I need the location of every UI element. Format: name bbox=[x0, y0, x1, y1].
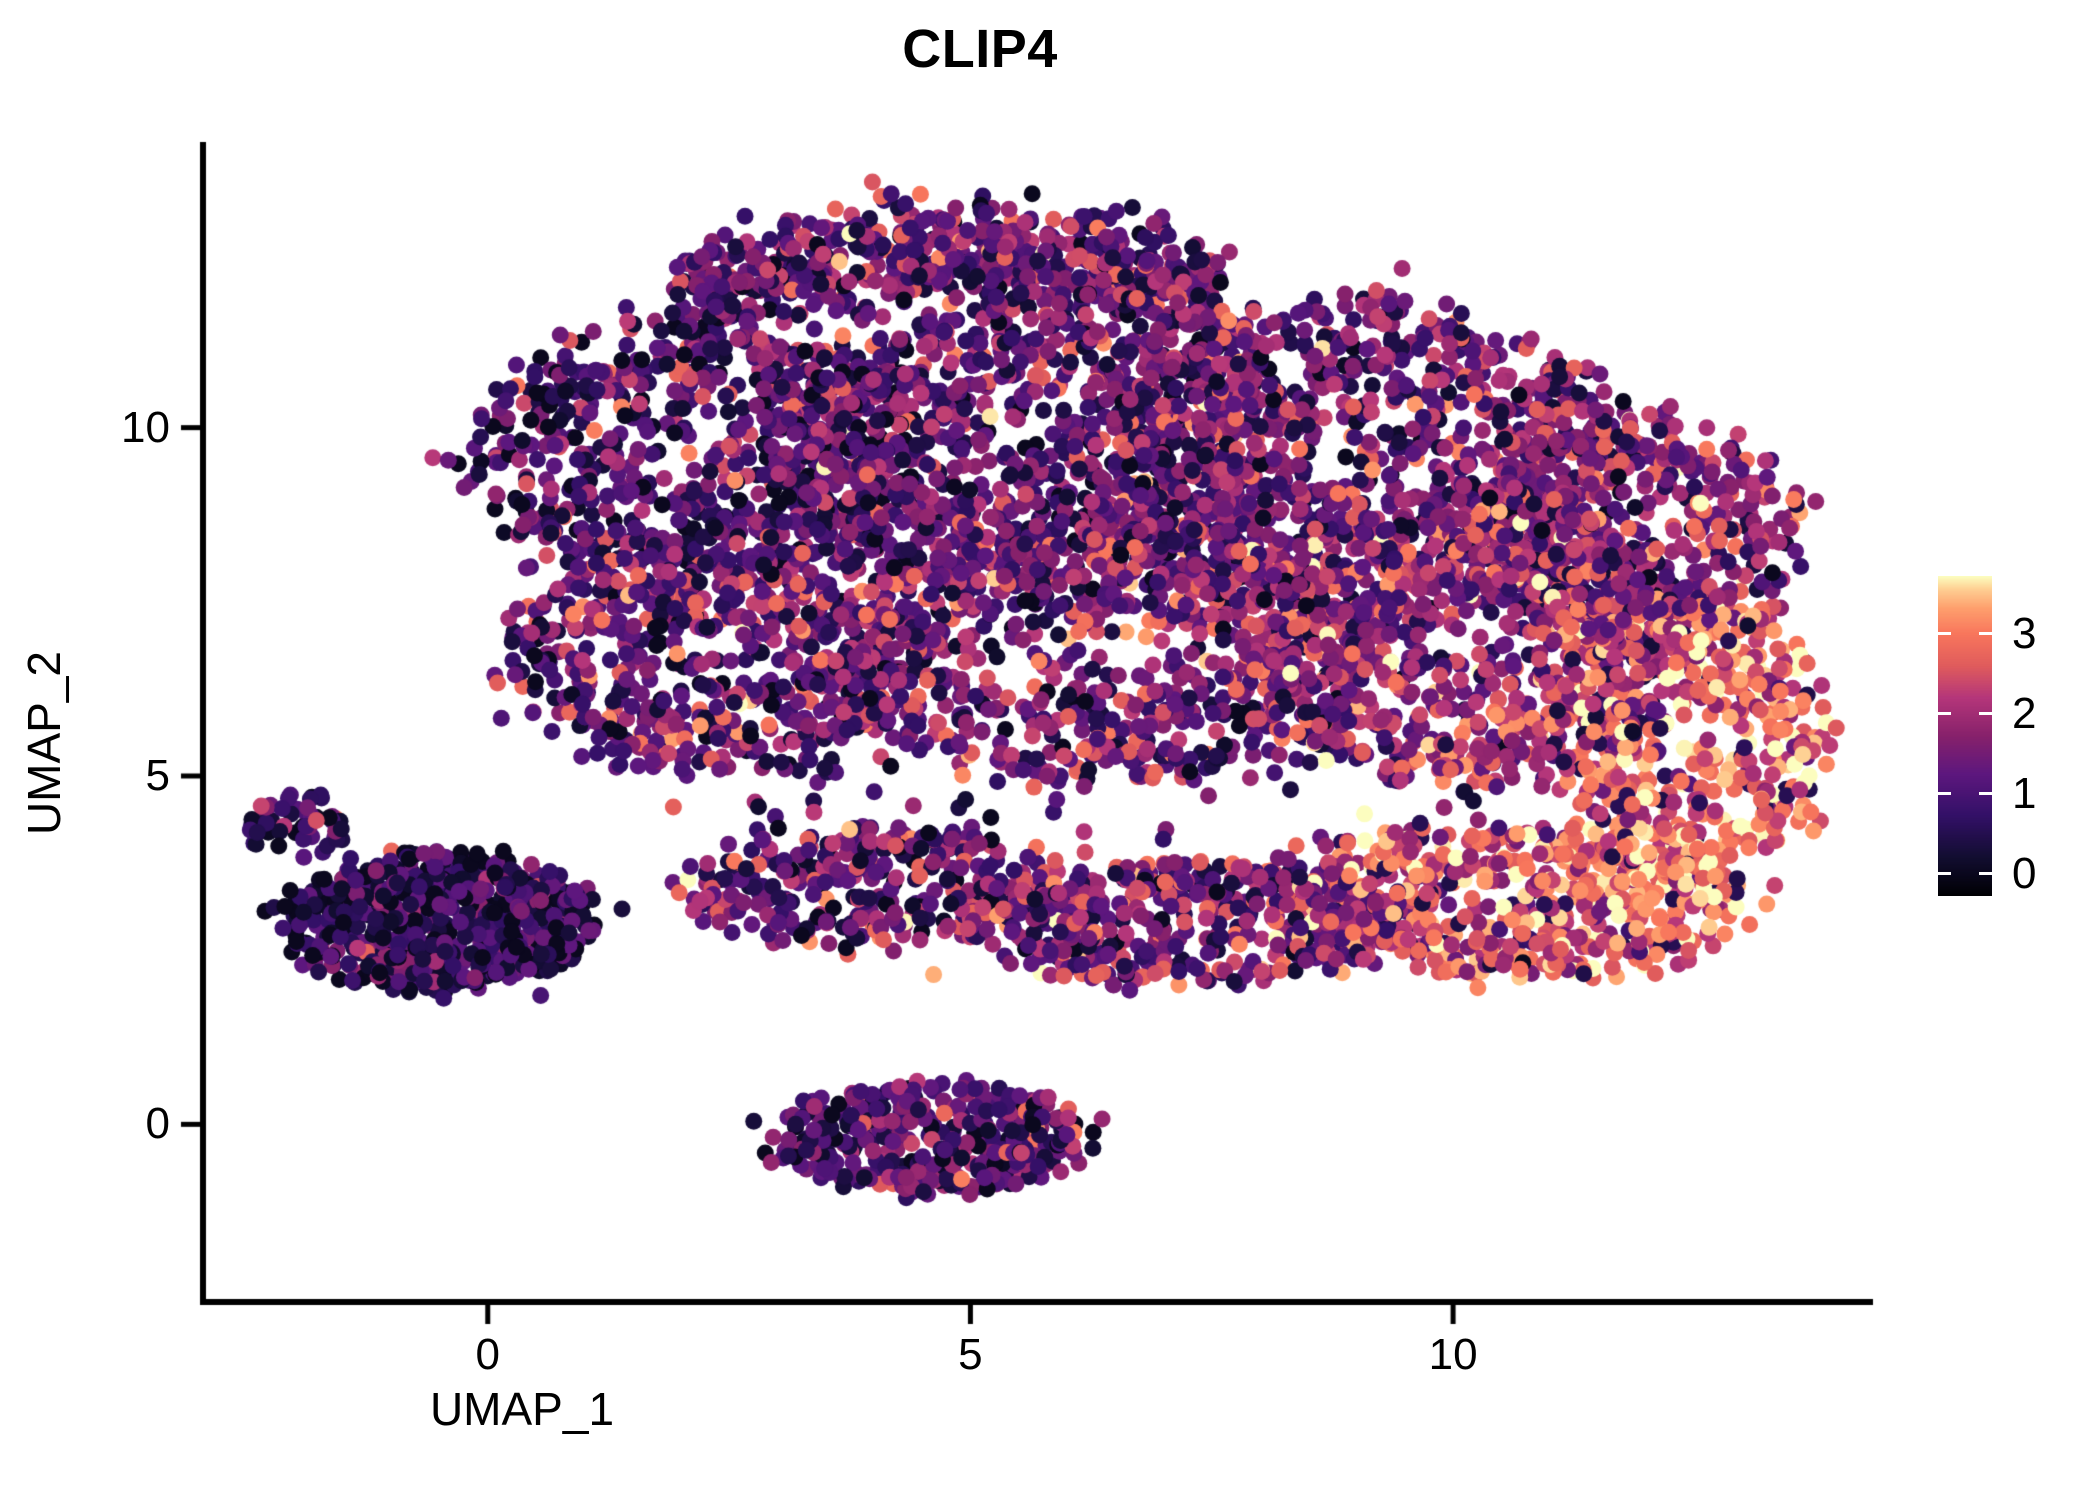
colorbar-tick-mark-2 bbox=[1938, 712, 1951, 715]
colorbar-tick-label-0: 0 bbox=[2012, 849, 2036, 899]
colorbar-tick-mark-3 bbox=[1979, 632, 1992, 635]
y-axis-tick-label-10: 10 bbox=[60, 403, 170, 453]
x-axis-tick-label-5: 5 bbox=[958, 1330, 982, 1380]
colorbar-legend: 0123 bbox=[1938, 576, 1992, 896]
x-axis-tick-label-0: 0 bbox=[476, 1330, 500, 1380]
scatter-plot-canvas bbox=[0, 0, 2100, 1500]
colorbar-gradient-canvas bbox=[1938, 576, 1992, 896]
colorbar-tick-label-2: 2 bbox=[2012, 689, 2036, 739]
x-axis-title: UMAP_1 bbox=[0, 1382, 2096, 1436]
colorbar-tick-mark-1 bbox=[1938, 792, 1951, 795]
y-axis-tick-label-5: 5 bbox=[60, 751, 170, 801]
y-axis-tick-label-0: 0 bbox=[60, 1099, 170, 1149]
colorbar-tick-mark-2 bbox=[1979, 712, 1992, 715]
colorbar-gradient-bar: 0123 bbox=[1938, 576, 1992, 896]
y-axis-title: UMAP_2 bbox=[17, 483, 71, 1003]
x-axis-tick-label-10: 10 bbox=[1429, 1330, 1478, 1380]
feature-plot-figure: CLIP4 10 5 0 0 5 10 UMAP_1 UMAP_2 0123 bbox=[0, 0, 2100, 1500]
colorbar-tick-label-1: 1 bbox=[2012, 769, 2036, 819]
colorbar-tick-mark-3 bbox=[1938, 632, 1951, 635]
x-axis-title-text: UMAP_1 bbox=[430, 1382, 614, 1436]
colorbar-tick-mark-0 bbox=[1938, 872, 1951, 875]
colorbar-tick-mark-0 bbox=[1979, 872, 1992, 875]
colorbar-tick-mark-1 bbox=[1979, 792, 1992, 795]
colorbar-tick-label-3: 3 bbox=[2012, 609, 2036, 659]
